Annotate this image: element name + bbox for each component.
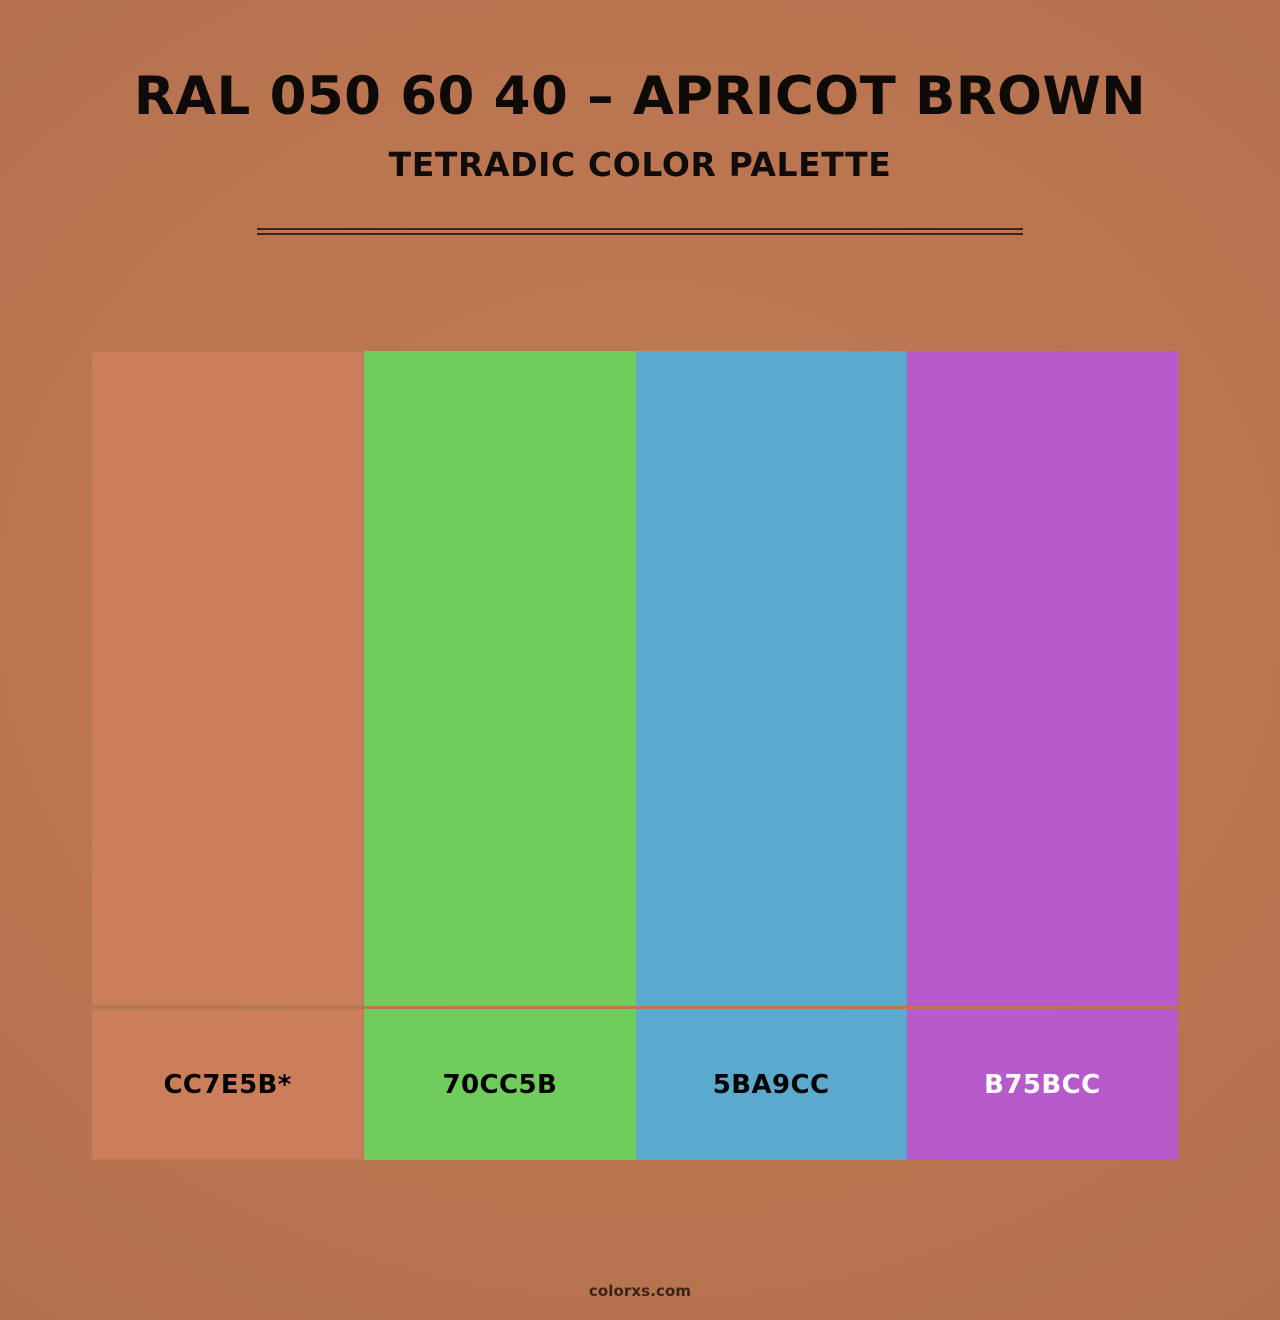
site-name[interactable]: colorxs.com bbox=[589, 1282, 691, 1300]
color-palette-page: RAL 050 60 40 – APRICOT BROWN TETRADIC C… bbox=[0, 0, 1280, 1320]
swatch-color-block[interactable] bbox=[636, 351, 907, 1006]
page-header: RAL 050 60 40 – APRICOT BROWN TETRADIC C… bbox=[0, 0, 1280, 184]
swatch-hex-text: CC7E5B* bbox=[163, 1070, 291, 1100]
double-rule-divider bbox=[257, 228, 1023, 235]
header-divider-wrap bbox=[0, 228, 1280, 235]
swatch-label-row: CC7E5B* 70CC5B 5BA9CC B75BCC bbox=[91, 1009, 1178, 1160]
swatch-hex-text: 70CC5B bbox=[443, 1070, 558, 1100]
swatch-hex-label[interactable]: 70CC5B bbox=[364, 1009, 635, 1160]
swatch-color-row bbox=[91, 351, 1178, 1006]
palette-panel: CC7E5B* 70CC5B 5BA9CC B75BCC bbox=[91, 351, 1178, 1160]
swatch-color-block[interactable] bbox=[364, 351, 635, 1006]
swatch-color-block[interactable] bbox=[907, 351, 1178, 1006]
swatch-hex-text: B75BCC bbox=[984, 1070, 1100, 1100]
swatch-hex-label[interactable]: CC7E5B* bbox=[91, 1009, 364, 1160]
page-subtitle: TETRADIC COLOR PALETTE bbox=[0, 125, 1280, 183]
page-title: RAL 050 60 40 – APRICOT BROWN bbox=[0, 0, 1280, 125]
swatch-hex-label[interactable]: B75BCC bbox=[907, 1009, 1178, 1160]
swatch-hex-text: 5BA9CC bbox=[713, 1070, 830, 1100]
site-footer: colorxs.com bbox=[0, 1282, 1280, 1300]
swatch-hex-label[interactable]: 5BA9CC bbox=[636, 1009, 907, 1160]
swatch-color-block[interactable] bbox=[91, 351, 364, 1006]
